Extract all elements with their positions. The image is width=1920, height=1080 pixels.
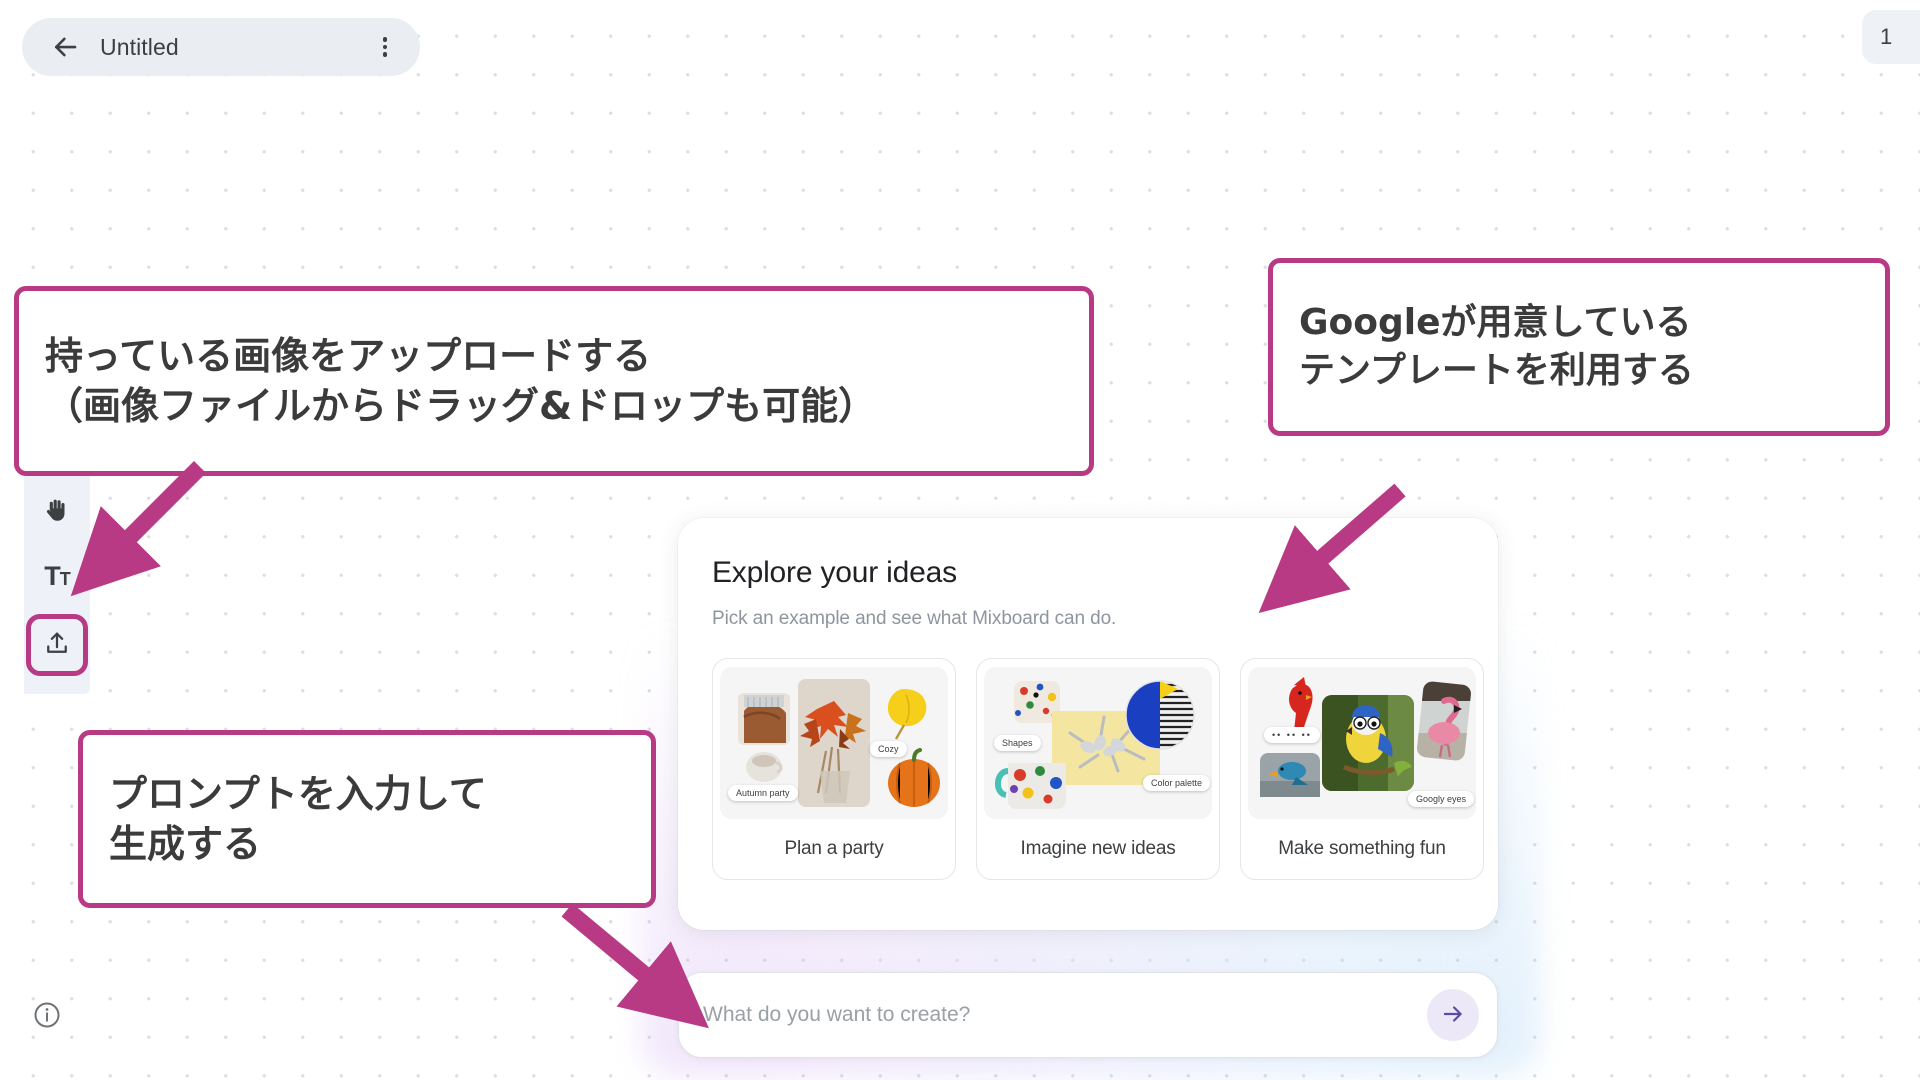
text-tool[interactable]: TT — [31, 550, 83, 602]
example-chip: •• •• •• — [1264, 727, 1320, 743]
kebab-menu-icon[interactable] — [372, 34, 398, 60]
annotation-arrow-to-upload-tool — [70, 455, 250, 615]
example-chip: Cozy — [870, 741, 907, 757]
document-title-bar[interactable]: Untitled — [22, 18, 420, 76]
send-prompt-button[interactable] — [1427, 989, 1479, 1041]
example-card-imagine-new-ideas[interactable]: Shapes Color palette Imagine new ideas — [976, 658, 1220, 880]
explore-card-subtitle: Pick an example and see what Mixboard ca… — [712, 608, 1464, 630]
zoom-level-label: 1 — [1880, 24, 1892, 50]
prompt-bar[interactable] — [678, 972, 1498, 1058]
explore-card-title: Explore your ideas — [712, 556, 1464, 590]
prompt-input[interactable] — [703, 1003, 1427, 1027]
left-toolbar[interactable]: TT — [24, 470, 90, 694]
example-chip: Color palette — [1143, 775, 1210, 791]
arrow-right-icon — [1440, 1001, 1466, 1030]
annotation-template: Googleが用意している テンプレートを利用する — [1268, 258, 1890, 436]
annotation-prompt: プロンプトを入力して 生成する — [78, 730, 656, 908]
explore-ideas-card[interactable]: Explore your ideas Pick an example and s… — [678, 518, 1498, 930]
example-thumbnail: Autumn party Cozy — [720, 667, 948, 819]
annotation-text: プロンプトを入力して 生成する — [109, 769, 487, 869]
example-thumbnail: •• •• •• Googly eyes — [1248, 667, 1476, 819]
annotation-text: Googleが用意している テンプレートを利用する — [1299, 299, 1694, 394]
info-circle-icon[interactable] — [32, 1000, 62, 1030]
example-list: Autumn party Cozy Plan a party — [712, 658, 1464, 880]
text-format-icon: TT — [44, 561, 70, 592]
upload-icon — [43, 629, 71, 662]
zoom-level-chip[interactable]: 1 — [1862, 10, 1920, 64]
arrow-left-icon[interactable] — [50, 32, 80, 62]
annotation-text: 持っている画像をアップロードする （画像ファイルからドラッグ&ドロップも可能） — [45, 331, 876, 431]
upload-tool[interactable] — [26, 614, 88, 676]
example-caption: Make something fun — [1278, 819, 1446, 879]
example-thumbnail: Shapes Color palette — [984, 667, 1212, 819]
example-card-plan-a-party[interactable]: Autumn party Cozy Plan a party — [712, 658, 956, 880]
hand-tool[interactable] — [31, 486, 83, 538]
example-caption: Imagine new ideas — [1020, 819, 1175, 879]
document-title[interactable]: Untitled — [100, 34, 372, 61]
example-chip: Shapes — [994, 735, 1041, 751]
example-chip: Autumn party — [728, 785, 798, 801]
example-card-make-something-fun[interactable]: •• •• •• Googly eyes Make something fun — [1240, 658, 1484, 880]
hand-icon — [42, 495, 72, 530]
example-chip: Googly eyes — [1408, 791, 1474, 807]
example-caption: Plan a party — [785, 819, 884, 879]
annotation-upload: 持っている画像をアップロードする （画像ファイルからドラッグ&ドロップも可能） — [14, 286, 1094, 476]
board-canvas[interactable]: Untitled 1 TT — [0, 0, 1920, 1080]
